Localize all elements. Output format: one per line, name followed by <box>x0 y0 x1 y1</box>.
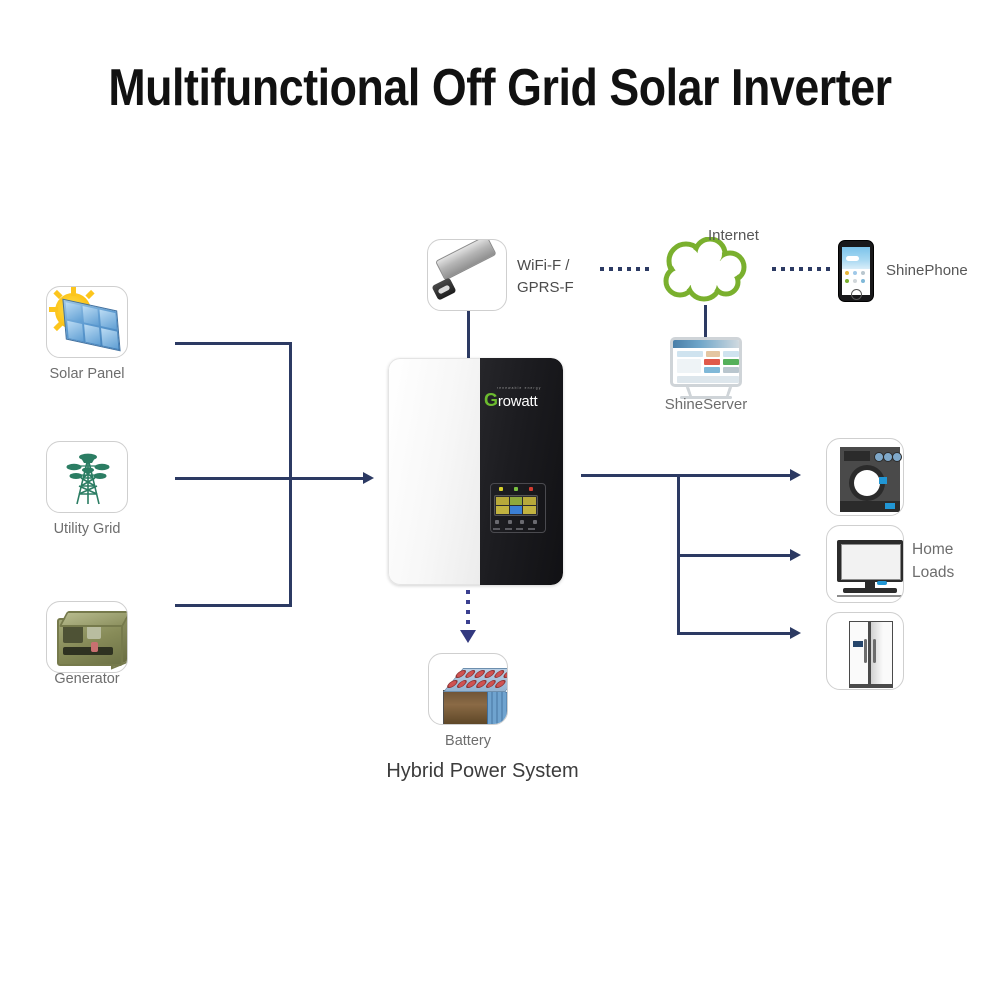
brand-logo: Growatt <box>484 390 537 411</box>
line-inverter-to-loads <box>581 474 794 477</box>
utility-grid-tower-icon <box>57 448 119 510</box>
internet-cloud-icon <box>652 237 757 307</box>
generator-handle <box>59 611 128 627</box>
sun-ray <box>85 290 94 299</box>
dongle-label: WiFi-F / GPRS-F <box>517 255 574 299</box>
line-dongle-to-inverter <box>467 311 470 359</box>
brand-name: rowatt <box>498 393 538 410</box>
phone-screen <box>842 247 870 295</box>
load-tile-washing-machine[interactable] <box>826 438 904 516</box>
led-red <box>529 487 533 491</box>
phone-home-button[interactable] <box>851 289 862 300</box>
battery-label: Battery <box>398 733 538 749</box>
washing-machine-icon <box>827 439 903 515</box>
led-yellow <box>499 487 503 491</box>
page-title: Multifunctional Off Grid Solar Inverter <box>70 58 930 118</box>
sun-ray <box>71 287 76 296</box>
shineserver-label: ShineServer <box>646 396 766 413</box>
line-branch-to-tv <box>677 554 794 557</box>
line-branch-to-fridge <box>677 632 794 635</box>
wifi-gprs-dongle-icon <box>428 240 506 310</box>
source-tile-generator[interactable] <box>46 601 128 673</box>
television-icon <box>827 526 903 602</box>
arrow-to-fridge <box>790 627 801 639</box>
load-tile-refrigerator[interactable] <box>826 612 904 690</box>
generator-icon <box>47 602 127 672</box>
inverter-button-row[interactable] <box>495 520 537 524</box>
brand-initial: G <box>484 390 498 410</box>
sun-ray <box>49 307 58 312</box>
diagram-canvas: Multifunctional Off Grid Solar Inverter … <box>0 0 1000 1000</box>
battery-icon <box>429 654 507 724</box>
arrow-to-washing-machine <box>790 469 801 481</box>
source-tile-utility-grid[interactable] <box>46 441 128 513</box>
shinephone-label: ShinePhone <box>886 262 968 279</box>
solar-panel-icon <box>47 287 127 357</box>
source-tile-solar-panel[interactable] <box>46 286 128 358</box>
battery-tile[interactable] <box>428 653 508 725</box>
arrow-to-battery <box>460 630 476 643</box>
load-tile-television[interactable] <box>826 525 904 603</box>
led-green <box>514 487 518 491</box>
inverter-label-row <box>493 528 535 530</box>
dongle-tile-wifi-gprs[interactable] <box>427 239 507 311</box>
shineserver-monitor-icon[interactable] <box>670 337 742 387</box>
dotted-line-inverter-to-battery <box>466 590 470 632</box>
line-generator-to-bus <box>175 604 292 607</box>
home-loads-label: Home Loads <box>912 538 954 584</box>
line-left-bus-vertical <box>289 342 292 607</box>
refrigerator-icon <box>827 613 903 689</box>
line-cloud-to-server <box>704 305 707 337</box>
pv-module <box>62 299 120 352</box>
home-loads-label-line1: Home <box>912 538 954 561</box>
dotted-line-cloud-to-phone <box>772 267 832 271</box>
shinephone-icon[interactable] <box>838 240 874 302</box>
line-solar-to-bus <box>175 342 292 345</box>
dongle-label-line1: WiFi-F / <box>517 255 574 277</box>
system-label: Hybrid Power System <box>0 760 965 783</box>
source-caption-solar-panel: Solar Panel <box>17 366 157 382</box>
source-caption-utility-grid: Utility Grid <box>17 521 157 537</box>
inverter-lcd-screen[interactable] <box>494 495 538 516</box>
arrow-to-tv <box>790 549 801 561</box>
inverter-left-panel <box>388 358 480 585</box>
line-bus-to-inverter <box>175 477 365 480</box>
sun-ray <box>53 322 62 331</box>
arrow-into-inverter <box>363 472 374 484</box>
source-caption-generator: Generator <box>17 671 157 687</box>
cloud-label: Internet <box>708 227 759 244</box>
monitor-header-bar <box>673 340 739 348</box>
home-loads-label-line2: Loads <box>912 561 954 584</box>
dongle-label-line2: GPRS-F <box>517 277 574 299</box>
dotted-line-inverter-to-cloud <box>600 267 650 271</box>
